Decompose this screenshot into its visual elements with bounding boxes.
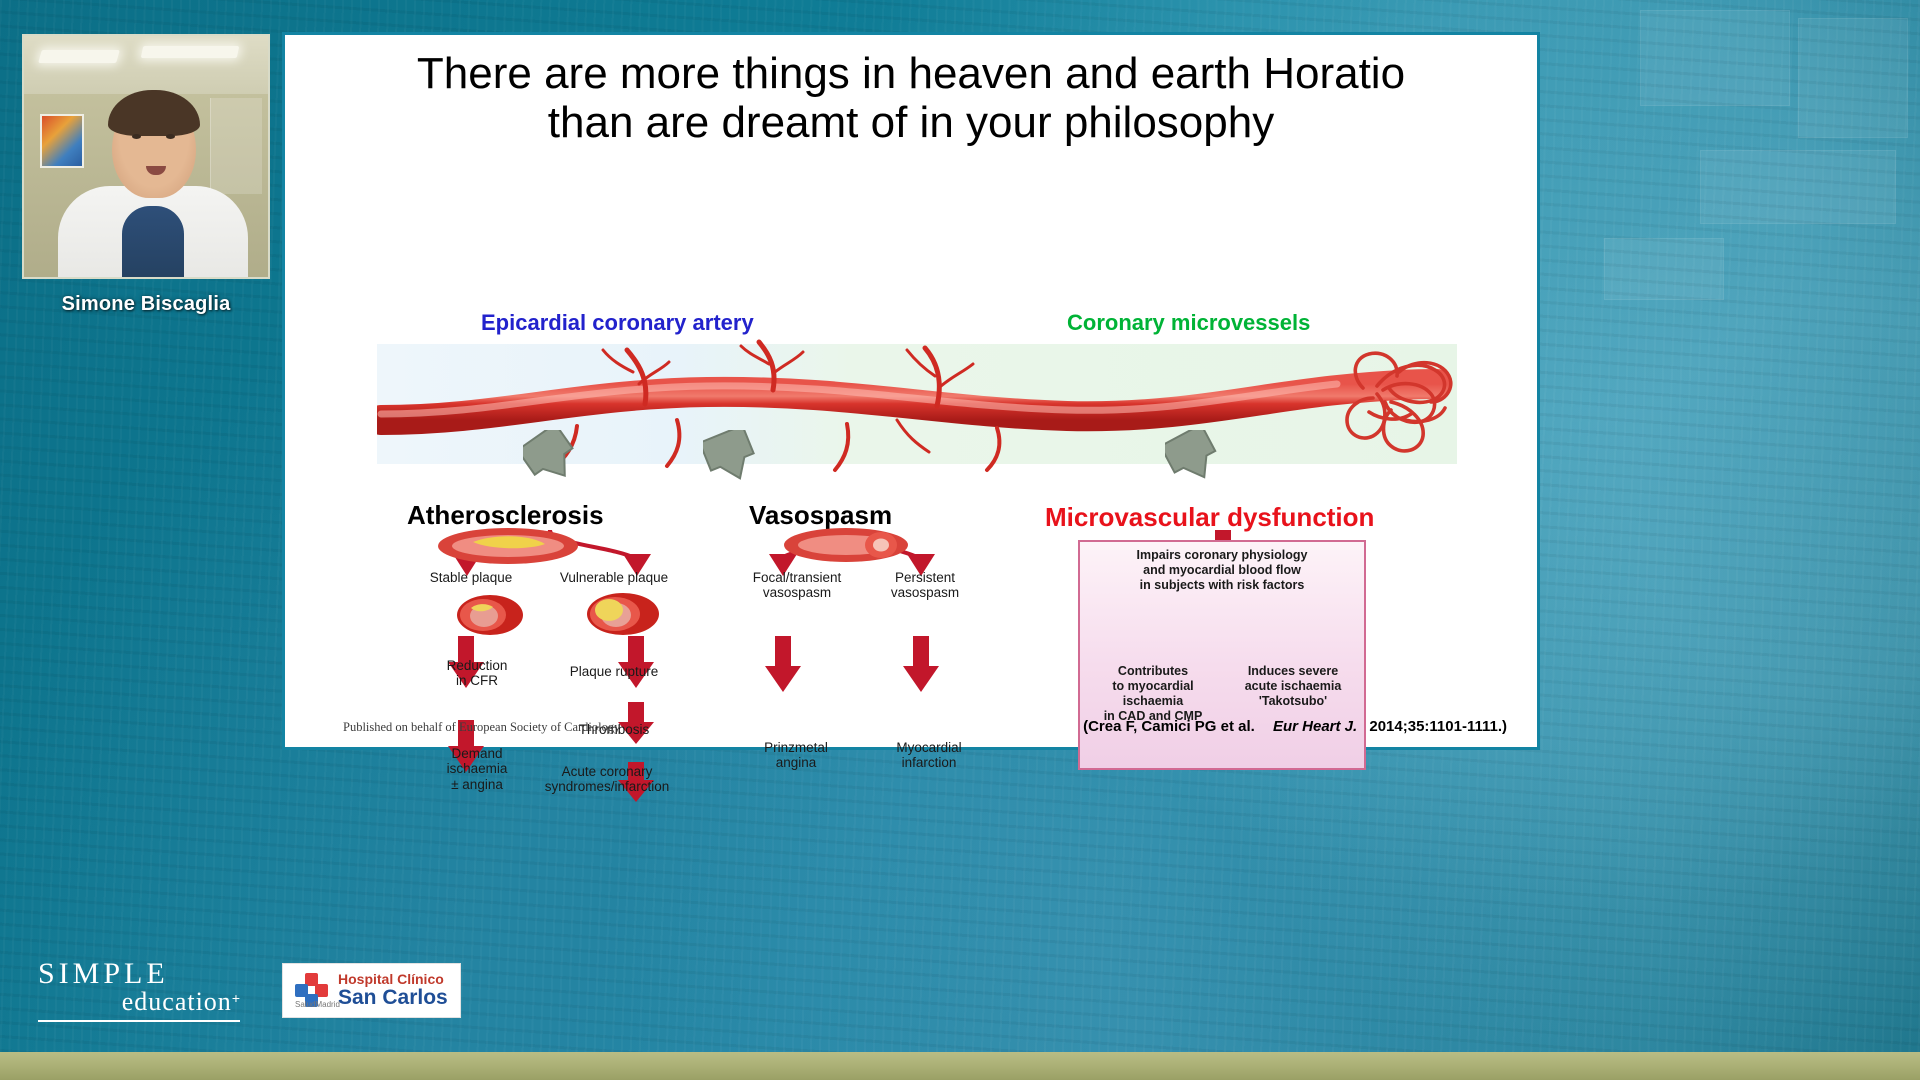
simple-education-logo: SIMPLE education +	[38, 959, 240, 1022]
presentation-slide[interactable]: There are more things in heaven and eart…	[282, 32, 1540, 750]
coronary-ischaemia-figure: Epicardial coronary artery Coronary micr…	[285, 152, 1537, 747]
node-focal-transient-vasospasm: Focal/transient vasospasm	[729, 570, 865, 602]
slide-title: There are more things in heaven and eart…	[285, 35, 1537, 152]
slide-title-line1: There are more things in heaven and eart…	[319, 49, 1503, 98]
webcam-scene-light	[141, 46, 240, 58]
grey-arrow-icon	[1165, 430, 1221, 482]
background-panel-shape	[1798, 18, 1908, 138]
simple-logo-superscript: +	[232, 991, 240, 1005]
webcam-scene-poster	[40, 114, 84, 168]
webcam-scene-door	[210, 98, 262, 194]
presenter-eyebrow	[162, 126, 180, 130]
presenter-eye	[132, 134, 141, 139]
grey-arrow-icon	[703, 430, 759, 482]
stable-plaque-icon	[455, 592, 525, 638]
grey-arrow-icon	[523, 430, 579, 482]
hospital-sub-label: SaludMadrid	[295, 1000, 335, 1009]
background-panel-shape	[1640, 10, 1790, 106]
node-plaque-rupture: Plaque rupture	[543, 664, 685, 680]
hospital-clinico-logo: SaludMadrid Hospital Clínico San Carlos	[282, 963, 461, 1018]
node-induces-severe-acute-ischaemia: Induces severe acute ischaemia 'Takotsub…	[1223, 664, 1363, 710]
presenter-webcam-video[interactable]	[22, 34, 270, 279]
presenter-name-label: Simone Biscaglia	[22, 293, 270, 316]
vasospasm-vessel-icon	[781, 520, 911, 570]
webcam-scene-light	[38, 50, 120, 63]
node-prinzmetal-angina: Prinzmetal angina	[731, 740, 861, 772]
bottom-accent-strip	[0, 1052, 1920, 1080]
node-stable-plaque: Stable plaque	[413, 570, 529, 586]
slide-title-line2: than are dreamt of in your philosophy	[319, 98, 1503, 147]
node-acute-coronary-syndromes: Acute coronary syndromes/infarction	[507, 764, 707, 796]
node-contributes-to-myocardial-ischaemia: Contributes to myocardial ischaemia in C…	[1085, 664, 1221, 725]
citation-journal: Eur Heart J.	[1273, 718, 1357, 735]
artery-cross-section-icon	[433, 520, 583, 572]
node-impairs-coronary-physiology: Impairs coronary physiology and myocardi…	[1085, 548, 1359, 594]
node-reduction-in-cfr: Reduction in CFR	[427, 658, 527, 690]
simple-logo-underline	[38, 1020, 240, 1022]
presenter-tile[interactable]: Simone Biscaglia	[22, 34, 270, 316]
hospital-name-line1: Hospital Clínico	[338, 972, 448, 987]
simple-logo-word-bottom: education	[122, 989, 232, 1015]
node-vulnerable-plaque: Vulnerable plaque	[541, 570, 687, 586]
citation-volume-pages: 2014;35:1101-1111.)	[1369, 718, 1507, 735]
simple-logo-bottom-row: education +	[38, 989, 240, 1015]
presenter-eye	[166, 134, 175, 139]
presenter-shirt	[122, 206, 184, 279]
webcam-scene-ceiling	[24, 36, 268, 94]
vulnerable-plaque-icon	[585, 590, 661, 638]
background-panel-shape	[1604, 238, 1724, 300]
node-persistent-vasospasm: Persistent vasospasm	[865, 570, 985, 602]
simple-logo-word-top: SIMPLE	[38, 959, 240, 989]
hospital-logo-text: Hospital Clínico San Carlos	[338, 972, 448, 1009]
node-myocardial-infarction: Myocardial infarction	[867, 740, 991, 772]
background-panel-shape	[1700, 150, 1896, 224]
credit-publisher: Published on behalf of European Society …	[343, 720, 620, 735]
footer-logo-row: SIMPLE education + SaludMadrid Hospital …	[38, 959, 461, 1022]
presenter-eyebrow	[128, 126, 146, 130]
hospital-cross-icon: SaludMadrid	[295, 973, 329, 1007]
hospital-name-line2: San Carlos	[338, 987, 448, 1009]
